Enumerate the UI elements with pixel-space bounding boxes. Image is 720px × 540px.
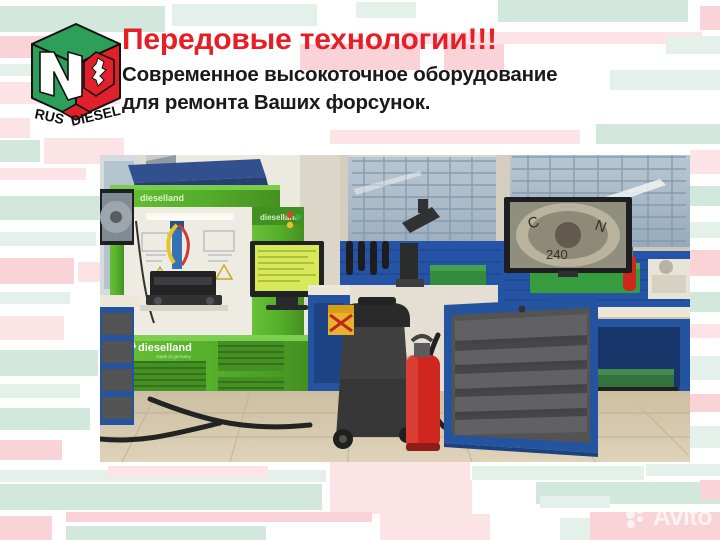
background-bar bbox=[690, 356, 720, 380]
background-bar bbox=[0, 258, 74, 284]
background-bar bbox=[700, 6, 720, 30]
background-bar bbox=[700, 480, 720, 500]
workshop-photo-illustration: C N 240 bbox=[100, 155, 690, 462]
background-bar bbox=[0, 350, 98, 376]
background-bar bbox=[0, 140, 40, 162]
background-bar bbox=[690, 250, 720, 276]
background-bar bbox=[690, 394, 720, 412]
background-bar bbox=[596, 124, 720, 144]
banner-canvas: RUS DIESEL Передовые технологии!!! Совре… bbox=[0, 0, 720, 540]
workshop-photo: C N 240 bbox=[100, 155, 690, 462]
background-bar bbox=[0, 196, 100, 220]
background-bar bbox=[472, 466, 644, 480]
background-bar bbox=[690, 222, 720, 238]
background-bar bbox=[330, 462, 470, 480]
background-bar bbox=[498, 0, 688, 22]
background-bar bbox=[66, 512, 372, 522]
background-bar bbox=[0, 168, 86, 180]
avito-dots-icon bbox=[626, 507, 648, 529]
avito-watermark-text: Avito bbox=[653, 505, 712, 530]
banner-title: Передовые технологии!!! bbox=[122, 24, 702, 55]
banner-subtitle-line-1: Современное высокоточное оборудование bbox=[122, 61, 702, 89]
background-bar bbox=[356, 2, 416, 18]
background-bar bbox=[66, 526, 266, 540]
background-bar bbox=[690, 426, 720, 448]
background-bar bbox=[0, 484, 322, 510]
background-bar bbox=[0, 408, 90, 430]
background-bar bbox=[690, 324, 720, 338]
logo-cube-icon: RUS DIESEL bbox=[28, 22, 124, 134]
background-bar bbox=[0, 118, 30, 138]
background-bar bbox=[646, 464, 720, 476]
background-bar bbox=[540, 496, 610, 508]
background-bar bbox=[690, 186, 720, 206]
rus-diesel-logo: RUS DIESEL bbox=[28, 22, 124, 134]
background-bar bbox=[330, 130, 580, 144]
background-bar bbox=[690, 150, 720, 174]
banner-subtitle-line-2: для ремонта Ваших форсунок. bbox=[122, 89, 702, 117]
background-bar bbox=[108, 466, 268, 478]
background-bar bbox=[0, 292, 70, 304]
background-bar bbox=[330, 480, 472, 514]
background-bar bbox=[380, 514, 490, 540]
background-bar bbox=[0, 384, 80, 398]
headline-block: Передовые технологии!!! Современное высо… bbox=[122, 24, 702, 117]
background-bar bbox=[0, 516, 52, 540]
background-bar bbox=[0, 440, 62, 460]
background-bar bbox=[690, 292, 720, 312]
background-bar bbox=[0, 232, 96, 246]
background-bar bbox=[0, 316, 64, 340]
background-bar bbox=[78, 262, 100, 282]
avito-watermark: Avito bbox=[626, 505, 712, 530]
